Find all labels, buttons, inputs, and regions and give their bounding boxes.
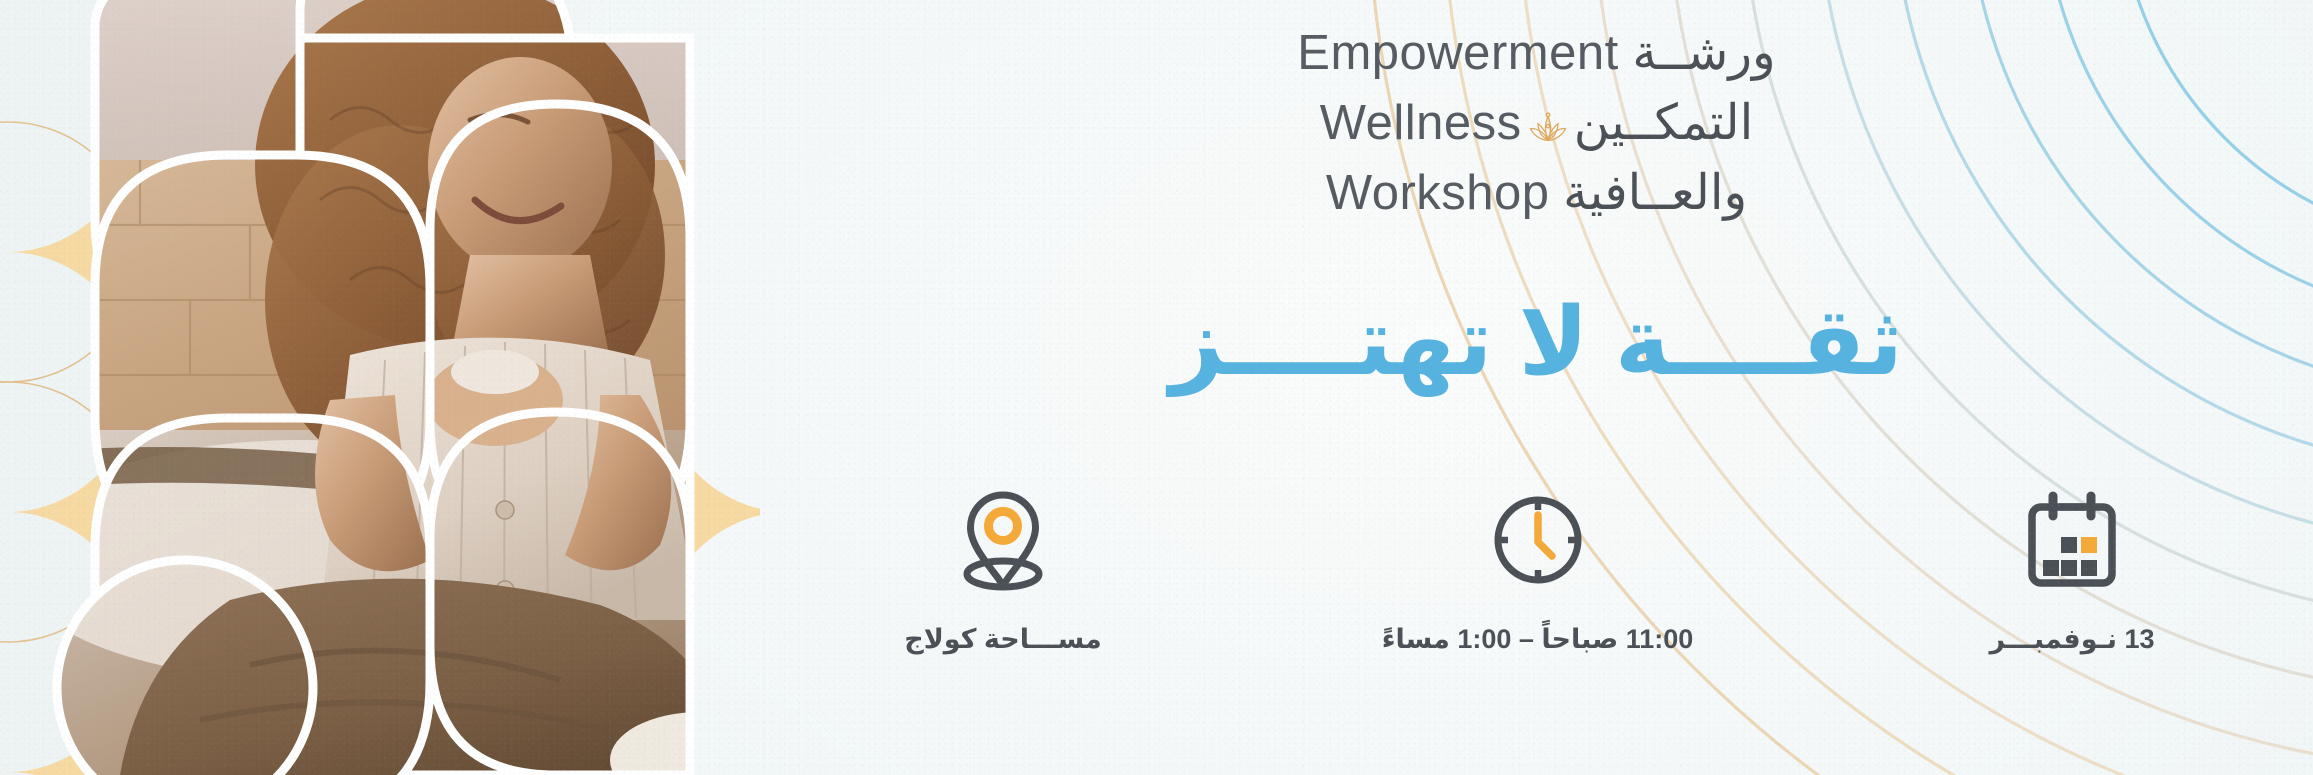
info-label-location: مســـاحة كولاج — [904, 622, 1102, 656]
clock-icon — [1488, 490, 1588, 590]
info-item-location: مســـاحة كولاج — [838, 490, 1168, 656]
photo-collage — [0, 0, 760, 775]
title-line-3-en: Workshop — [1326, 166, 1550, 220]
tagline: ثقــــة لا تهتــــز — [760, 287, 2313, 397]
info-label-date: 13 نـوفمبـــر — [1989, 622, 2154, 656]
title-line-2: التمكــين Wellness — [760, 88, 2313, 158]
collage-svg — [0, 0, 760, 775]
banner-content: ورشــة Empowerment التمكــين Wellness وا… — [760, 0, 2313, 775]
calendar-icon — [2023, 490, 2121, 590]
location-pin-icon — [955, 490, 1051, 590]
title-line-3: والعــافية Workshop — [760, 158, 2313, 228]
info-label-time: 11:00 صباحاً – 1:00 مساءً — [1382, 622, 1694, 656]
lotus-icon — [1528, 94, 1568, 128]
title-line-2-ar: التمكــين — [1574, 96, 1754, 150]
info-item-date: 13 نـوفمبـــر — [1907, 490, 2237, 656]
title-line-3-ar: والعــافية — [1563, 166, 1747, 220]
page-title: ورشــة Empowerment التمكــين Wellness وا… — [760, 18, 2313, 228]
title-line-1-ar: ورشــة — [1632, 26, 1775, 80]
workshop-banner: ورشــة Empowerment التمكــين Wellness وا… — [0, 0, 2313, 775]
info-item-time: 11:00 صباحاً – 1:00 مساءً — [1373, 490, 1703, 656]
title-line-2-en: Wellness — [1320, 96, 1522, 150]
title-line-1-en: Empowerment — [1297, 26, 1618, 80]
title-line-1: ورشــة Empowerment — [760, 18, 2313, 88]
collage-blobs — [57, 0, 690, 775]
event-info-row: مســـاحة كولاج 11: — [838, 490, 2237, 656]
